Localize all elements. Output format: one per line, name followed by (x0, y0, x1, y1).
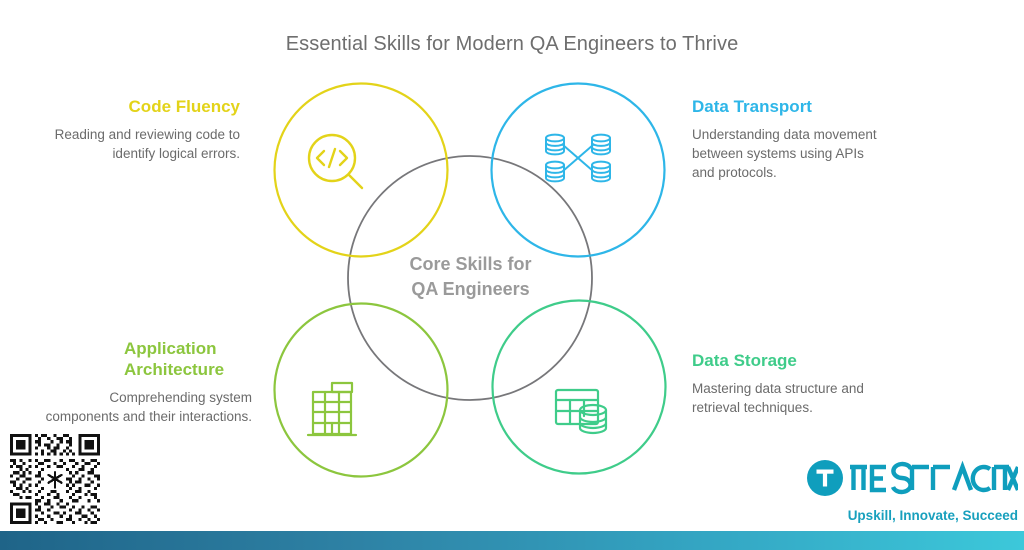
quadrant-data-transport: Data Transport Understanding data moveme… (692, 96, 882, 182)
circle-code-fluency (275, 84, 448, 257)
quadrant-application-architecture: Application Architecture Comprehending s… (40, 338, 252, 426)
qr-code[interactable] (10, 434, 100, 524)
quadrant-body-data-storage: Mastering data structure and retrieval t… (692, 379, 882, 417)
code-magnifier-icon (309, 135, 362, 188)
center-label: Core Skills for QA Engineers (348, 252, 593, 302)
quadrant-heading-data-transport: Data Transport (692, 96, 882, 117)
logo-wordmark (850, 464, 1018, 492)
infographic-canvas: Essential Skills for Modern QA Engineers… (0, 0, 1024, 550)
heading-line1: Application (124, 339, 217, 358)
brand-logo (806, 458, 1018, 500)
brand-tagline: Upskill, Innovate, Succeed (760, 508, 1018, 523)
office-building-icon (308, 383, 356, 435)
center-label-line2: QA Engineers (348, 277, 593, 302)
page-title: Essential Skills for Modern QA Engineers… (0, 33, 1024, 56)
bottom-accent-bar (0, 531, 1024, 550)
center-label-line1: Core Skills for (348, 252, 593, 277)
quadrant-data-storage: Data Storage Mastering data structure an… (692, 350, 882, 417)
quadrant-body-code-fluency: Reading and reviewing code to identify l… (40, 125, 240, 163)
quadrant-heading-application-architecture: Application Architecture (40, 338, 252, 380)
circle-data-transport (492, 84, 665, 257)
quadrant-code-fluency: Code Fluency Reading and reviewing code … (40, 96, 240, 163)
quadrant-heading-data-storage: Data Storage (692, 350, 882, 371)
circle-data-storage (493, 301, 666, 474)
quadrant-heading-code-fluency: Code Fluency (40, 96, 240, 117)
database-network-icon (546, 135, 610, 182)
quadrant-body-application-architecture: Comprehending system components and thei… (40, 388, 252, 426)
quadrant-body-data-transport: Understanding data movement between syst… (692, 125, 882, 182)
table-database-icon (556, 390, 606, 433)
logo-mark-icon (807, 460, 843, 496)
heading-line2: Architecture (124, 360, 224, 379)
